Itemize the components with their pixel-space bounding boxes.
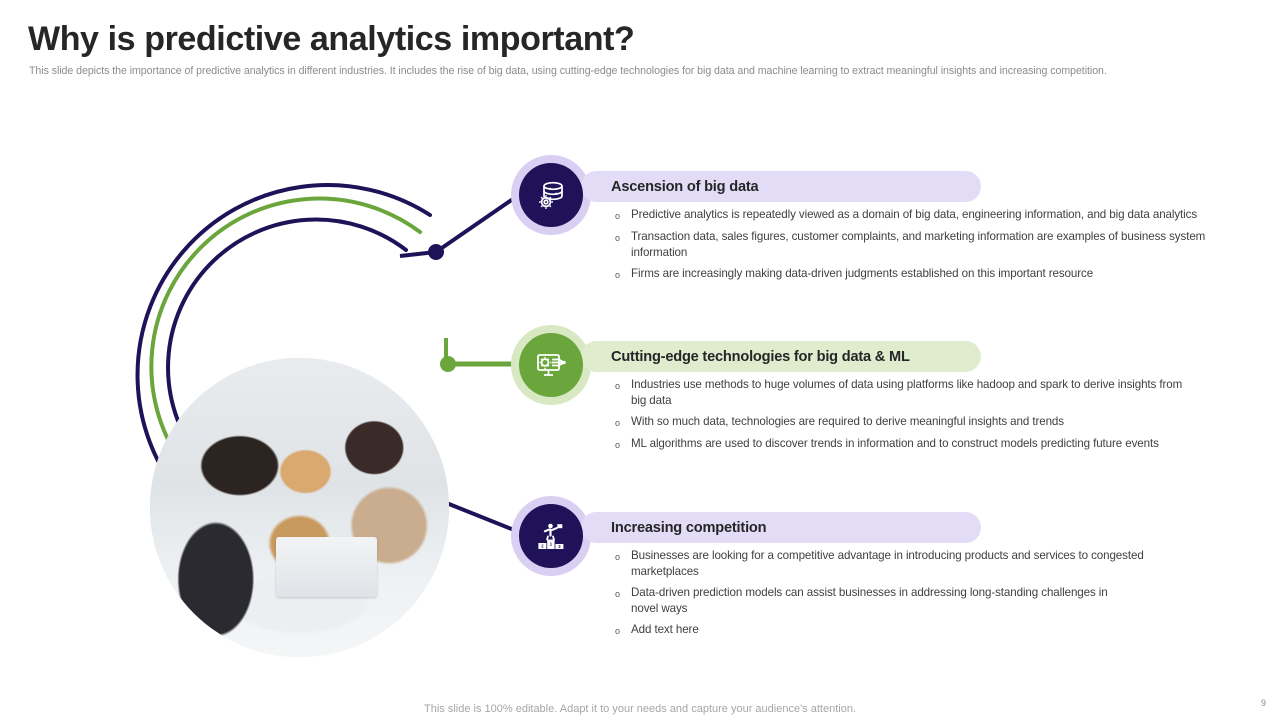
card-2-title-bar: Cutting-edge technologies for big data &… (581, 341, 981, 372)
bullet-marker: o (615, 548, 631, 580)
list-item: o Add text here (615, 622, 1280, 639)
bullet-marker: o (615, 585, 631, 617)
card-2-title: Cutting-edge technologies for big data &… (581, 349, 910, 365)
bullet-marker: o (615, 266, 631, 283)
bullet-text: Add text here (631, 622, 1111, 639)
bullet-text: Data-driven prediction models can assist… (631, 585, 1111, 617)
list-item: o Predictive analytics is repeatedly vie… (615, 207, 1280, 224)
bullet-text: Transaction data, sales figures, custome… (631, 229, 1209, 261)
bullet-text: ML algorithms are used to discover trend… (631, 436, 1176, 453)
page-number: 9 (1261, 698, 1266, 708)
card-3-bullets: o Businesses are looking for a competiti… (615, 548, 1280, 644)
bullet-marker: o (615, 622, 631, 639)
list-item: o Businesses are looking for a competiti… (615, 548, 1280, 580)
bullet-marker: o (615, 229, 631, 261)
list-item: o Transaction data, sales figures, custo… (615, 229, 1280, 261)
card-1-title-bar: Ascension of big data (581, 171, 981, 202)
card-3-title: Increasing competition (581, 520, 766, 536)
bullet-marker: o (615, 414, 631, 431)
circular-diagram (34, 140, 514, 610)
bullet-marker: o (615, 207, 631, 224)
bullet-text: Industries use methods to huge volumes o… (631, 377, 1196, 409)
page-title: Why is predictive analytics important? (28, 18, 634, 60)
connector-1-dot (428, 244, 444, 260)
connector-1-line (436, 190, 514, 252)
team-photo-image (150, 358, 449, 657)
bullet-marker: o (615, 436, 631, 453)
bullet-text: Predictive analytics is repeatedly viewe… (631, 207, 1211, 224)
bullet-text: With so much data, technologies are requ… (631, 414, 1201, 431)
card-3-title-bar: Increasing competition (581, 512, 981, 543)
team-photo (150, 358, 449, 657)
card-2-bullets: o Industries use methods to huge volumes… (615, 377, 1280, 458)
database-gear-icon (519, 163, 583, 227)
footer-note: This slide is 100% editable. Adapt it to… (0, 703, 1280, 715)
card-1-bullets: o Predictive analytics is repeatedly vie… (615, 207, 1280, 288)
monitor-gear-network-icon (519, 333, 583, 397)
slide-root: Why is predictive analytics important? T… (0, 0, 1280, 720)
bullet-text: Businesses are looking for a competitive… (631, 548, 1156, 580)
list-item: o With so much data, technologies are re… (615, 414, 1280, 431)
list-item: o Industries use methods to huge volumes… (615, 377, 1280, 409)
podium-winner-icon: 1 2 3 (519, 504, 583, 568)
bullet-marker: o (615, 377, 631, 409)
page-subtitle: This slide depicts the importance of pre… (29, 64, 1149, 79)
card-1-title: Ascension of big data (581, 179, 758, 195)
list-item: o ML algorithms are used to discover tre… (615, 436, 1280, 453)
list-item: o Data-driven prediction models can assi… (615, 585, 1280, 617)
list-item: o Firms are increasingly making data-dri… (615, 266, 1280, 283)
bullet-text: Firms are increasingly making data-drive… (631, 266, 1211, 283)
